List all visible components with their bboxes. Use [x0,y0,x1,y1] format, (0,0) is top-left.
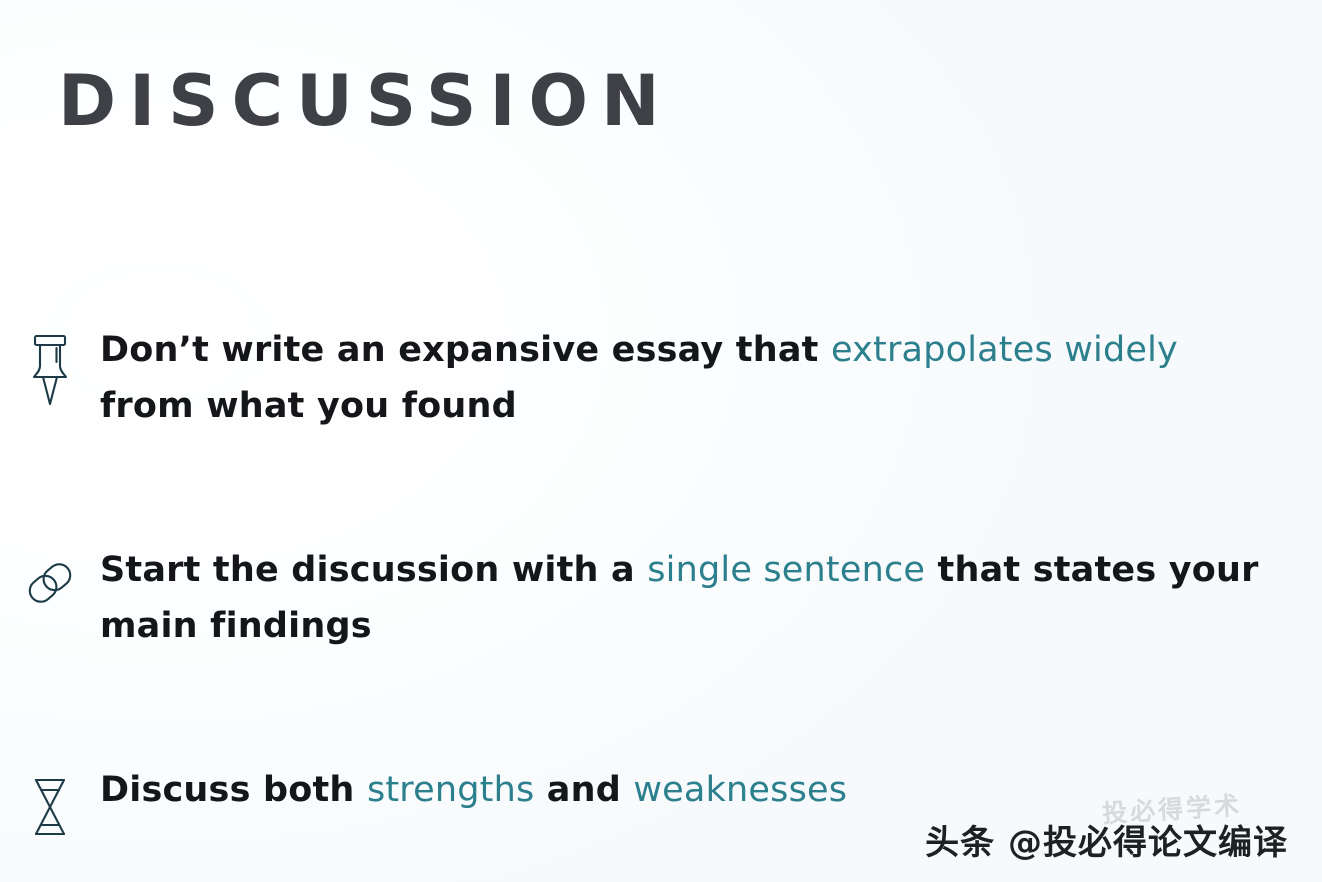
list-item: Don’t write an expansive essay that extr… [0,322,1322,434]
bullet-1-text-a: Don’t write an expansive essay that [100,330,831,370]
bullet-1-text-c: from what you found [100,386,517,426]
pushpin-icon [0,322,100,408]
list-item-text: Start the discussion with a single sente… [100,542,1322,654]
bullet-3-text-c: and [534,770,633,810]
slide-canvas: DISCUSSION Don’t write an expansive essa… [0,0,1322,882]
bullet-3-highlight-1: strengths [367,770,534,810]
list-item: Start the discussion with a single sente… [0,542,1322,654]
bullet-2-text-a: Start the discussion with a [100,550,647,590]
bullet-2-highlight: single sentence [647,550,925,590]
hourglass-icon [0,762,100,838]
chain-link-icon [0,542,100,612]
watermark-primary: 头条 @投必得论文编译 [925,815,1288,864]
page-title: DISCUSSION [58,61,673,142]
bullet-1-highlight: extrapolates widely [831,330,1178,370]
bullet-3-highlight-2: weaknesses [633,770,847,810]
bullet-3-text-a: Discuss both [100,770,367,810]
list-item-text: Don’t write an expansive essay that extr… [100,322,1322,434]
bullet-list: Don’t write an expansive essay that extr… [0,322,1322,622]
